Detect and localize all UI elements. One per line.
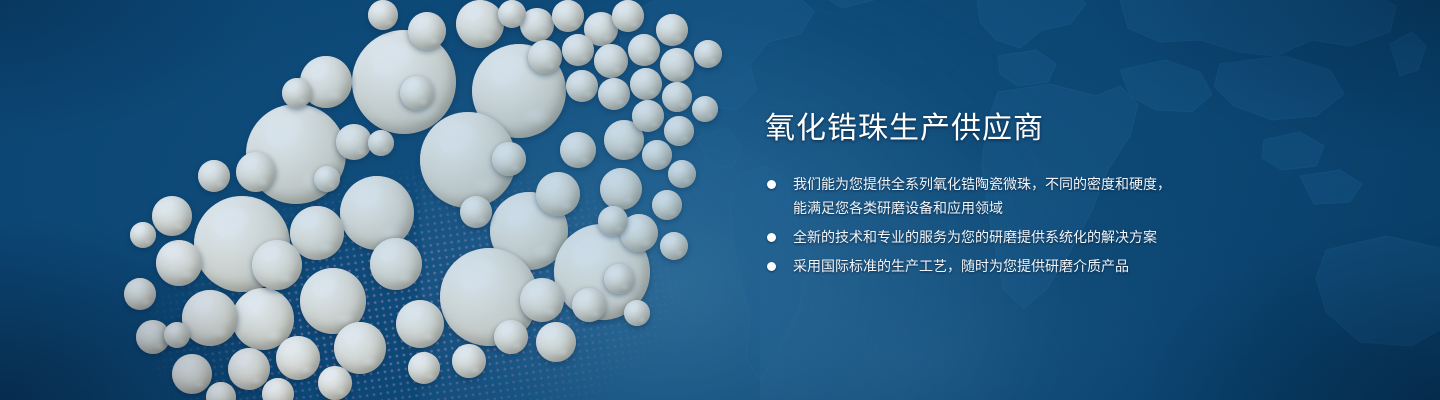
hero-banner: 氧化锆珠生产供应商 我们能为您提供全系列氧化锆陶瓷微珠，不同的密度和硬度， 能满… bbox=[0, 0, 1440, 400]
feature-list: 我们能为您提供全系列氧化锆陶瓷微珠，不同的密度和硬度， 能满足您各类研磨设备和应… bbox=[765, 172, 1325, 278]
feature-text-line: 采用国际标准的生产工艺，随时为您提供研磨介质产品 bbox=[793, 254, 1325, 278]
bullet-dot-icon bbox=[767, 262, 776, 271]
feature-list-item: 我们能为您提供全系列氧化锆陶瓷微珠，不同的密度和硬度， 能满足您各类研磨设备和应… bbox=[765, 172, 1325, 220]
feature-text-line: 全新的技术和专业的服务为您的研磨提供系统化的解决方案 bbox=[793, 225, 1325, 249]
banner-copy: 氧化锆珠生产供应商 我们能为您提供全系列氧化锆陶瓷微珠，不同的密度和硬度， 能满… bbox=[765, 108, 1325, 283]
feature-text-line: 能满足您各类研磨设备和应用领域 bbox=[793, 196, 1325, 220]
bullet-dot-icon bbox=[767, 233, 776, 242]
feature-list-item: 采用国际标准的生产工艺，随时为您提供研磨介质产品 bbox=[765, 254, 1325, 278]
feature-text-line: 我们能为您提供全系列氧化锆陶瓷微珠，不同的密度和硬度， bbox=[793, 172, 1325, 196]
bullet-dot-icon bbox=[767, 180, 776, 189]
banner-headline: 氧化锆珠生产供应商 bbox=[765, 108, 1325, 150]
feature-list-item: 全新的技术和专业的服务为您的研磨提供系统化的解决方案 bbox=[765, 225, 1325, 249]
